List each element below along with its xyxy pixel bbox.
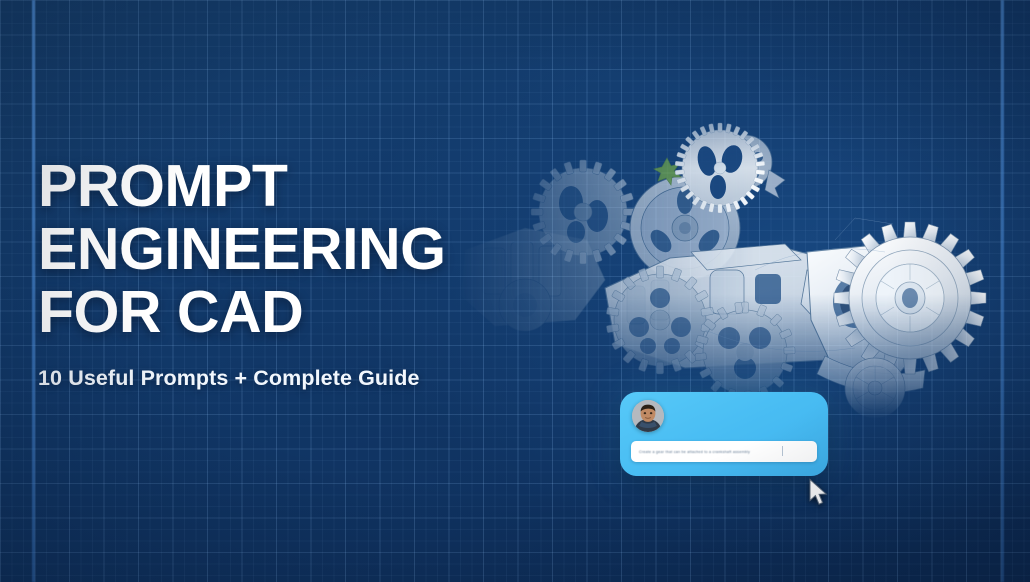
title-card-canvas: PROMPT ENGINEERING FOR CAD 10 Useful Pro…: [0, 0, 1030, 582]
prompt-input-text: Create a gear that can be attached to a …: [639, 450, 750, 454]
mouse-cursor-icon: [808, 478, 830, 508]
text-caret: [782, 446, 783, 456]
title-line-2: ENGINEERING: [38, 221, 558, 277]
title-line-1: PROMPT: [38, 158, 558, 214]
title-line-3: FOR CAD: [38, 284, 558, 340]
headline-block: PROMPT ENGINEERING FOR CAD 10 Useful Pro…: [38, 158, 558, 391]
prompt-input[interactable]: Create a gear that can be attached to a …: [631, 441, 817, 462]
chat-prompt-card[interactable]: Create a gear that can be attached to a …: [620, 392, 828, 476]
grid-accent-line-left: [32, 0, 35, 582]
subtitle: 10 Useful Prompts + Complete Guide: [38, 366, 558, 391]
avatar: [632, 400, 664, 432]
